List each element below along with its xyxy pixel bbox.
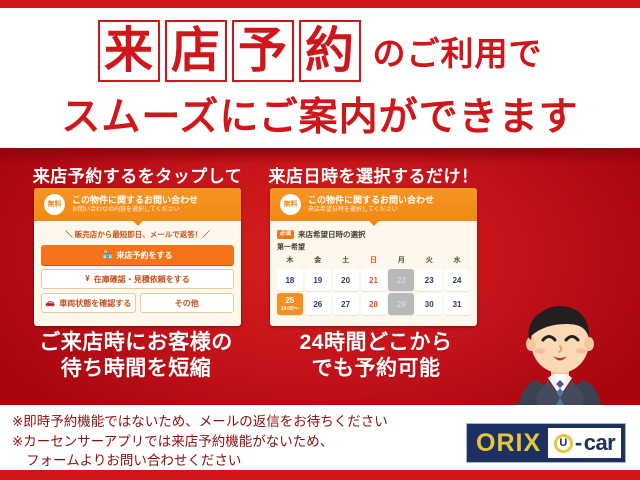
- calendar-day-25[interactable]: 2514:00～: [277, 293, 303, 315]
- calendar-day-22: 22: [388, 269, 414, 291]
- left-mock-subtitle: お問い合わせの内容を選択してください: [72, 207, 198, 214]
- calendar-dow-土: 土: [333, 255, 359, 267]
- feature-band: 来店予約するをタップして 来店日時を選択するだけ！ 無料 この物件に関するお問い…: [0, 148, 640, 405]
- calendar-label: 来店希望日時の選択: [298, 229, 366, 240]
- right-column-heading: 来店日時を選択するだけ！: [266, 162, 481, 187]
- ucar-badge: U - car: [548, 428, 621, 458]
- calendar-day-29: 29: [388, 293, 414, 315]
- header-section: 来 店 予 約 のご利用で スムーズにご案内ができます: [0, 8, 640, 148]
- secondary-button-row: 🚗 車両状態を確認する その他: [41, 293, 234, 313]
- right-mock-title: この物件に関するお問い合わせ: [308, 195, 434, 205]
- calendar-day-31[interactable]: 31: [444, 293, 470, 315]
- footnote-3: フォームよりお問い合わせください: [12, 451, 452, 471]
- calendar-day-number: 28: [369, 300, 378, 309]
- bottom-red-rule: [0, 470, 640, 480]
- calendar-day-30[interactable]: 30: [416, 293, 442, 315]
- orix-wordmark: ORIX: [467, 429, 548, 458]
- calendar-day-number: 27: [341, 300, 350, 309]
- calendar-dow-日: 日: [361, 255, 387, 267]
- vehicle-condition-button[interactable]: 🚗 車両状態を確認する: [41, 293, 136, 313]
- calendar-label-row: 必須 来店希望日時の選択: [277, 229, 470, 240]
- u-circle-icon: U: [554, 434, 573, 453]
- stock-quote-label: 在庫確認・見積依頼をする: [94, 274, 190, 285]
- headline-line-1: 来 店 予 約 のご利用で: [0, 16, 640, 86]
- ucar-wordmark: car: [584, 430, 616, 456]
- orix-ucar-logo: ORIX U - car: [466, 423, 626, 463]
- left-column-heading: 来店予約するをタップして: [30, 162, 245, 187]
- other-label: その他: [175, 298, 199, 309]
- calendar-day-20[interactable]: 20: [333, 269, 359, 291]
- right-benefit-text: 24時間どこから でも予約可能: [262, 330, 490, 381]
- calendar-day-21[interactable]: 21: [361, 269, 387, 291]
- ucar-sep: -: [575, 430, 582, 456]
- top-red-rule: [0, 0, 640, 8]
- calendar-day-19[interactable]: 19: [305, 269, 331, 291]
- reserve-visit-label: 来店予約をする: [116, 250, 172, 261]
- calendar-dow-火: 火: [416, 255, 442, 267]
- left-benefit-line-1: ご来店時にお客様の: [10, 330, 262, 356]
- calendar-day-number: 21: [369, 276, 378, 285]
- left-mock-body: ＼ 販売店から最短即日、メールで返答！／ 🏪 来店予約をする ¥ 在庫確認・見積…: [34, 221, 241, 319]
- calendar-dow-水: 水: [444, 255, 470, 267]
- headline-tail: のご利用で: [373, 27, 543, 75]
- calendar-day-26[interactable]: 26: [305, 293, 331, 315]
- shop-icon: 🏪: [103, 251, 113, 259]
- calendar-day-number: 20: [341, 276, 350, 285]
- boxed-keyword: 来 店 予 約: [98, 20, 361, 82]
- calendar-dow-月: 月: [388, 255, 414, 267]
- footnotes: ※即時予約機能ではないため、メールの返信をお待ちください ※カーセンサーアプリで…: [12, 412, 452, 471]
- calendar-day-number: 29: [397, 300, 406, 309]
- right-app-mockup: 無料 この物件に関するお問い合わせ 来店希望日時を選択してください 必須 来店希…: [270, 188, 477, 326]
- calendar-day-number: 22: [397, 276, 406, 285]
- footnote-2: ※カーセンサーアプリでは来店予約機能がないため、: [12, 432, 452, 452]
- left-benefit-line-2: 待ち時間を短縮: [10, 356, 262, 382]
- right-benefit-line-2: でも予約可能: [262, 356, 490, 382]
- calendar-day-number: 23: [425, 276, 434, 285]
- calendar-day-24[interactable]: 24: [444, 269, 470, 291]
- calendar-day-23[interactable]: 23: [416, 269, 442, 291]
- yen-icon: ¥: [85, 275, 89, 283]
- right-mock-header: 無料 この物件に関するお問い合わせ 来店希望日時を選択してください: [270, 188, 477, 221]
- boxed-char-2: 店: [165, 20, 227, 82]
- left-benefit-text: ご来店時にお客様の 待ち時間を短縮: [10, 330, 262, 381]
- advertisement-banner: 来 店 予 約 のご利用で スムーズにご案内ができます 来店予約するをタップして…: [0, 0, 640, 480]
- calendar-day-number: 26: [313, 300, 322, 309]
- boxed-char-4: 約: [299, 20, 361, 82]
- required-badge: 必須: [277, 230, 294, 239]
- car-icon: 🚗: [45, 299, 55, 307]
- boxed-char-3: 予: [232, 20, 294, 82]
- calendar-day-number: 30: [425, 300, 434, 309]
- stock-quote-button[interactable]: ¥ 在庫確認・見積依頼をする: [41, 269, 234, 289]
- calendar-day-28[interactable]: 28: [361, 293, 387, 315]
- calendar-day-number: 24: [453, 276, 462, 285]
- free-badge: 無料: [44, 194, 65, 215]
- other-button[interactable]: その他: [140, 293, 235, 313]
- right-mock-body: 必須 来店希望日時の選択 第一希望 木金土日月火水181920212223242…: [270, 221, 477, 321]
- boxed-char-1: 来: [98, 20, 160, 82]
- salesman-icon: [496, 300, 622, 405]
- calendar-dow-金: 金: [305, 255, 331, 267]
- calendar-day-time: 14:00～: [281, 305, 299, 312]
- headline-line-2: スムーズにご案内ができます: [0, 86, 640, 142]
- calendar-sublabel: 第一希望: [277, 242, 470, 252]
- footnote-1: ※即時予約機能ではないため、メールの返信をお待ちください: [12, 412, 452, 432]
- calendar-day-number: 18: [285, 276, 294, 285]
- calendar-day-number: 31: [453, 300, 462, 309]
- left-mock-title: この物件に関するお問い合わせ: [72, 195, 198, 205]
- reserve-visit-button[interactable]: 🏪 来店予約をする: [41, 245, 234, 265]
- calendar-day-number: 25: [285, 296, 294, 305]
- calendar-day-27[interactable]: 27: [333, 293, 359, 315]
- calendar-day-18[interactable]: 18: [277, 269, 303, 291]
- calendar-grid: 木金土日月火水181920212223242514:00～26272829303…: [277, 255, 470, 315]
- reply-notice: ＼ 販売店から最短即日、メールで返答！／: [41, 225, 234, 245]
- vehicle-condition-label: 車両状態を確認する: [59, 298, 131, 309]
- right-mock-subtitle: 来店希望日時を選択してください: [308, 207, 434, 214]
- calendar-day-number: 19: [313, 276, 322, 285]
- right-benefit-line-1: 24時間どこから: [262, 330, 490, 356]
- left-mock-header: 無料 この物件に関するお問い合わせ お問い合わせの内容を選択してください: [34, 188, 241, 221]
- free-badge: 無料: [280, 194, 301, 215]
- calendar-dow-木: 木: [277, 255, 303, 267]
- left-app-mockup: 無料 この物件に関するお問い合わせ お問い合わせの内容を選択してください ＼ 販…: [34, 188, 241, 326]
